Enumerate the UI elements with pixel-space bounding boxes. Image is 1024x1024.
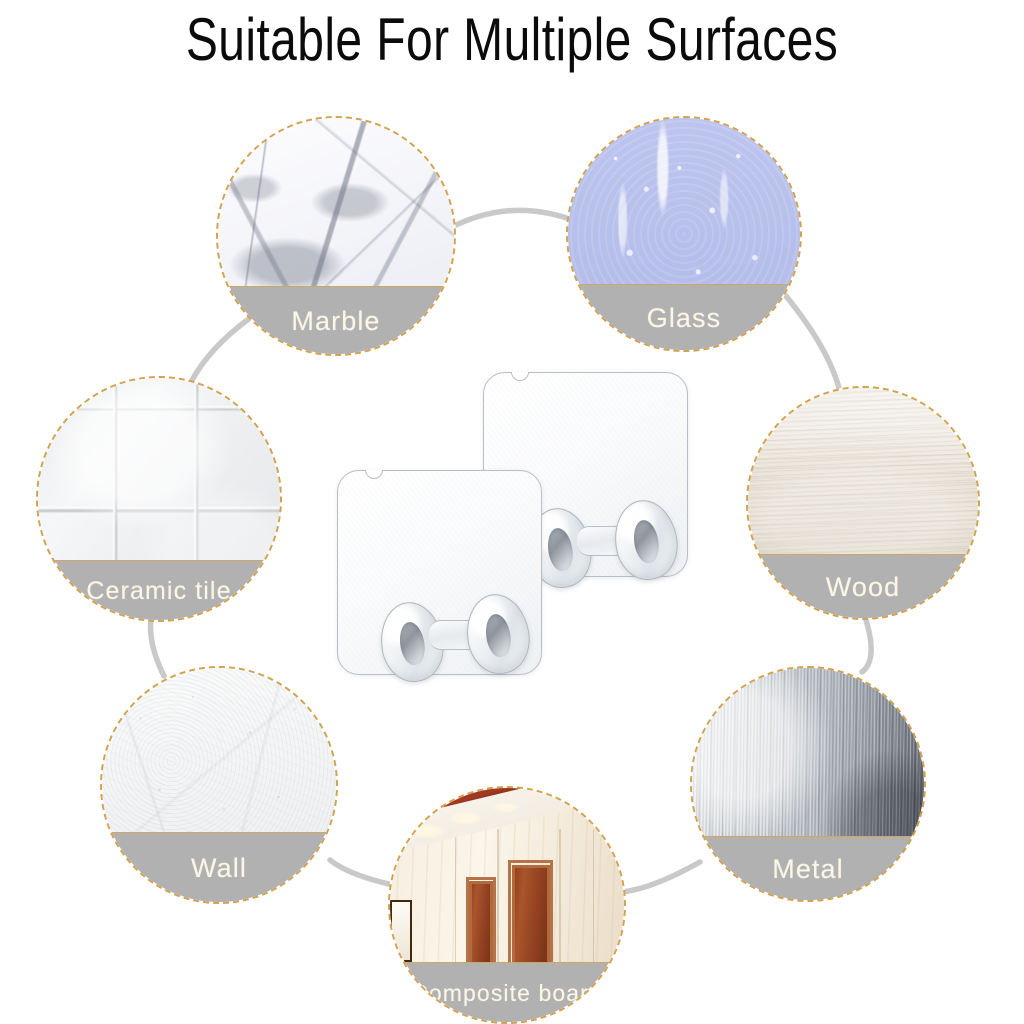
surface-label-band-wall: Wall — [100, 832, 338, 904]
surface-label-ceramic-tile: Ceramic tile — [86, 577, 231, 606]
surface-circle-marble[interactable]: Marble — [216, 116, 456, 356]
surface-circle-glass[interactable]: Glass — [566, 116, 802, 352]
surface-label-metal: Metal — [772, 854, 844, 885]
surface-label-band-glass: Glass — [566, 284, 802, 352]
surface-label-marble: Marble — [291, 306, 380, 337]
product-image-adhesive-hooks — [315, 372, 715, 712]
hook-knob-bore — [545, 526, 576, 573]
surface-circle-wall[interactable]: Wall — [100, 666, 338, 904]
connector-marble-glass — [450, 210, 578, 228]
surface-label-band-composite-board: Composite board — [388, 962, 626, 1024]
plate-notch-icon — [511, 372, 529, 381]
connector-metal-composite — [620, 862, 700, 892]
surface-label-band-metal: Metal — [690, 836, 926, 902]
surface-label-band-ceramic-tile: Ceramic tile — [36, 560, 282, 622]
surface-label-band-marble: Marble — [216, 286, 456, 356]
surface-circle-ceramic-tile[interactable]: Ceramic tile — [36, 376, 282, 622]
surface-label-wall: Wall — [191, 853, 247, 884]
hook-knob-bore — [483, 612, 514, 659]
page-title: Suitable For Multiple Surfaces — [102, 8, 921, 73]
surface-label-composite-board: Composite board — [411, 980, 603, 1007]
infographic-canvas: Suitable For Multiple Surfaces Marble — [0, 0, 1024, 1024]
hook-knob-bore — [631, 518, 662, 565]
surface-label-wood: Wood — [826, 572, 900, 603]
plate-notch-icon — [365, 470, 383, 479]
surface-circle-composite-board[interactable]: Composite board — [388, 786, 626, 1024]
connector-wood-metal — [862, 620, 871, 672]
surface-label-band-wood: Wood — [746, 554, 980, 620]
hook-knob-bore — [397, 620, 428, 667]
surface-label-glass: Glass — [647, 303, 722, 334]
connector-composite-wall — [330, 860, 398, 886]
surface-circle-wood[interactable]: Wood — [746, 386, 980, 620]
surface-circle-metal[interactable]: Metal — [690, 666, 926, 902]
